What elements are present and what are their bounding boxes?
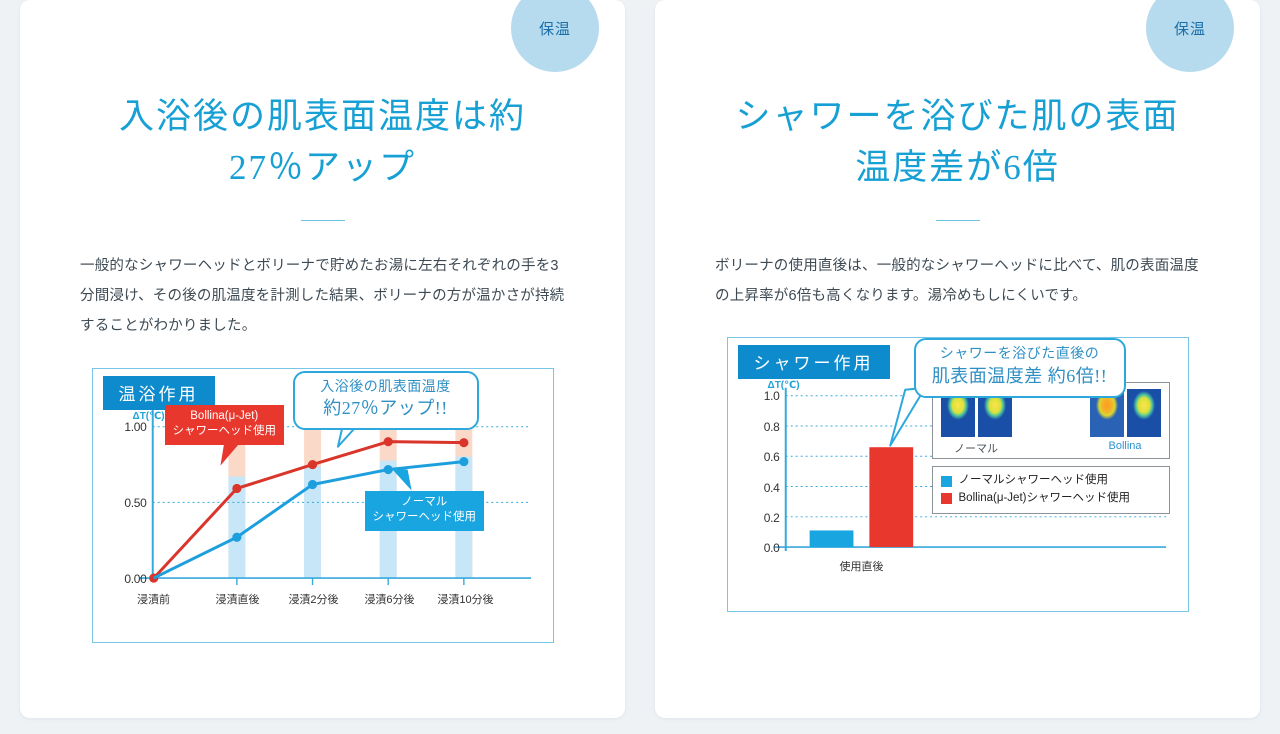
headline-line-1: 入浴後の肌表面温度は約 [119, 97, 526, 136]
chart-title-right: シャワー作用 [738, 345, 890, 379]
page-title-left: 入浴後の肌表面温度は約 27％アップ [80, 92, 565, 194]
x-tick-0: 浸漬前 [114, 591, 194, 607]
title-divider-right [936, 220, 980, 221]
lead-paragraph-right: ボリーナの使用直後は、一般的なシャワーヘッドに比べて、肌の表面温度の上昇率が6倍… [715, 251, 1200, 312]
x-tick-4: 浸漬10分後 [424, 591, 508, 607]
thermal-caption-normal: ノーマル [941, 440, 1012, 456]
callout-bubble-left: 入浴後の肌表面温度 約27％アップ!! [293, 371, 479, 430]
comparison-cards-page: 保温 入浴後の肌表面温度は約 27％アップ 一般的なシャワーヘッドとボリーナで貯… [0, 0, 1280, 734]
y-tick-0-6: 0.6 [736, 450, 780, 464]
legend-label-normal: ノーマルシャワーヘッド使用 [959, 472, 1109, 489]
x-tick-3: 浸漬6分後 [350, 591, 430, 607]
thermal-caption-bollina: Bollina [1090, 440, 1161, 456]
y-tick-0-2: 0.2 [736, 511, 780, 525]
y-tick-0-50: 0.50 [101, 496, 147, 510]
title-divider-left [301, 220, 345, 221]
lead-paragraph-left: 一般的なシャワーヘッドとボリーナで貯めたお湯に左右それぞれの手を3分間浸け、その… [80, 251, 565, 342]
series-tag-normal-line-1: ノーマル [401, 496, 447, 508]
callout-line-1: シャワーを浴びた直後の [926, 346, 1114, 364]
callout-line-2: 約27％アップ!! [305, 397, 467, 421]
y-tick-0-8: 0.8 [736, 420, 780, 434]
series-tag-normal-line-2: シャワーヘッド使用 [373, 511, 477, 523]
series-tag-bollina: Bollina(μ-Jet) シャワーヘッド使用 [165, 405, 285, 445]
x-tick-1: 浸漬直後 [198, 591, 278, 607]
x-tick-2: 浸漬2分後 [274, 591, 354, 607]
legend-item-bollina: Bollina(μ-Jet)シャワーヘッド使用 [941, 490, 1161, 507]
y-tick-1-0: 1.0 [736, 389, 780, 403]
badge-label: 保温 [539, 18, 571, 39]
y-tick-0-4: 0.4 [736, 481, 780, 495]
chart-bath-effect: 温浴作用 ΔT(℃) [92, 368, 554, 643]
thermal-hand-icon [1127, 389, 1161, 437]
x-tick-0: 使用直後 [822, 558, 902, 574]
callout-line-1: 入浴後の肌表面温度 [305, 379, 467, 397]
page-title-right: シャワーを浴びた肌の表面 温度差が6倍 [715, 92, 1200, 194]
callout-bubble-right: シャワーを浴びた直後の 肌表面温度差 約6倍!! [914, 338, 1126, 397]
badge-label: 保温 [1174, 18, 1206, 39]
y-axis-label-right: ΔT(℃) [768, 380, 800, 391]
series-tag-normal: ノーマル シャワーヘッド使用 [365, 491, 485, 531]
legend-item-normal: ノーマルシャワーヘッド使用 [941, 472, 1161, 489]
card-bath-temperature: 保温 入浴後の肌表面温度は約 27％アップ 一般的なシャワーヘッドとボリーナで貯… [20, 0, 625, 718]
legend-swatch-red-icon [941, 493, 952, 504]
series-tag-bollina-line-1: Bollina(μ-Jet) [190, 410, 258, 422]
y-tick-0-00: 0.00 [101, 572, 147, 586]
callout-line-2: 肌表面温度差 約6倍!! [926, 365, 1114, 389]
y-tick-0-0: 0.0 [736, 541, 780, 555]
chart-shower-effect: シャワー作用 ΔT(℃) [727, 337, 1189, 612]
legend-swatch-blue-icon [941, 476, 952, 487]
y-tick-1-00: 1.00 [101, 420, 147, 434]
y-axis-label-left: ΔT(℃) [133, 411, 165, 422]
series-tag-bollina-line-2: シャワーヘッド使用 [173, 425, 277, 437]
chart-legend: ノーマルシャワーヘッド使用 Bollina(μ-Jet)シャワーヘッド使用 [932, 466, 1170, 514]
card-shower-temperature: 保温 シャワーを浴びた肌の表面 温度差が6倍 ボリーナの使用直後は、一般的なシャ… [655, 0, 1260, 718]
headline-line-2: 27％アップ [229, 148, 416, 187]
legend-label-bollina: Bollina(μ-Jet)シャワーヘッド使用 [959, 490, 1130, 507]
headline-line-2: 温度差が6倍 [855, 148, 1060, 187]
headline-line-1: シャワーを浴びた肌の表面 [735, 97, 1179, 136]
